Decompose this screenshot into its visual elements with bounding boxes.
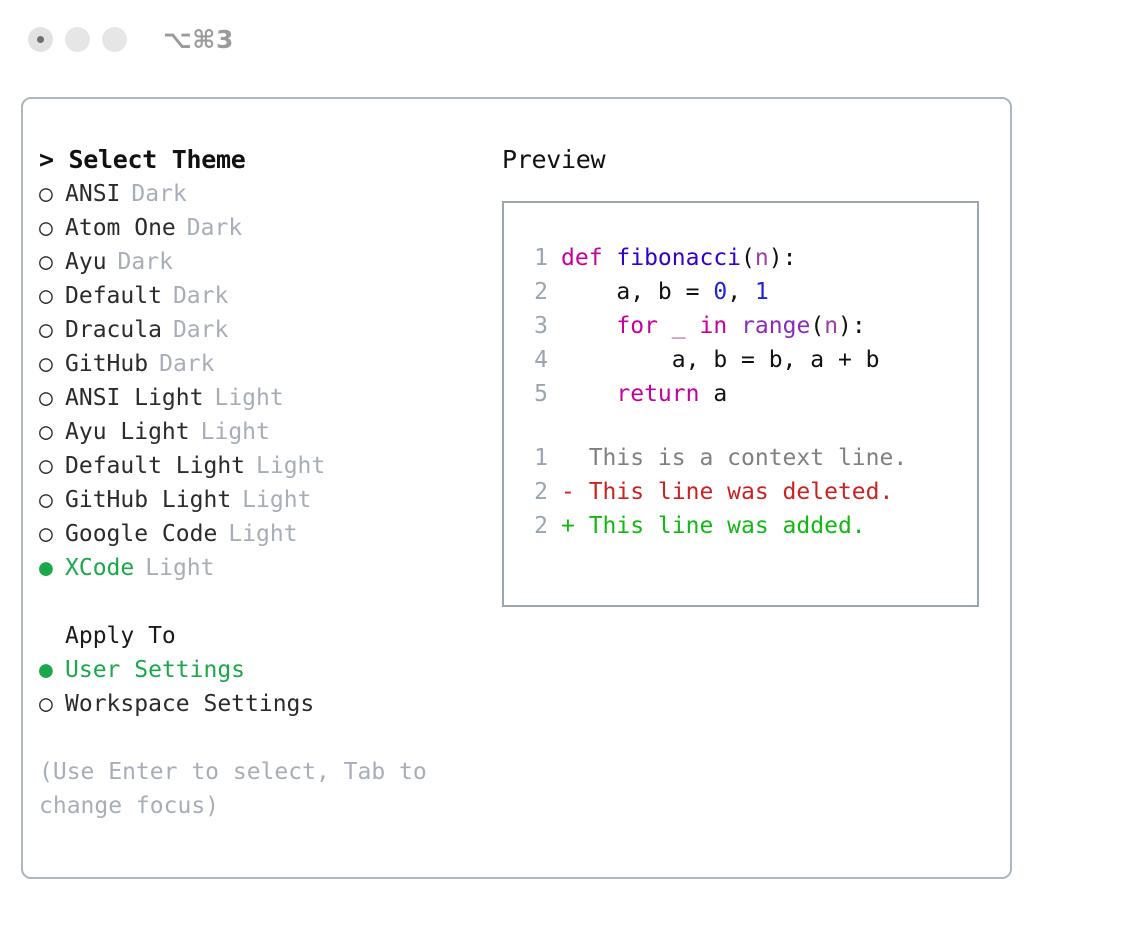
radio-unselected-icon: ○ [39,313,65,347]
code-line: 4 a, b = b, a + b [516,343,977,377]
apply-to-option-label: Workspace Settings [65,687,314,721]
code-line: 3 for _ in range(n): [516,309,977,343]
keyboard-shortcut-label: ⌥⌘3 [163,25,234,54]
theme-option-label: Ayu Light [65,415,190,449]
theme-option-default[interactable]: ○DefaultDark [39,279,479,313]
theme-option-label: Dracula [65,313,162,347]
diff-text: + This line was added. [561,509,866,543]
window-dot-second[interactable] [65,27,90,52]
theme-option-dracula[interactable]: ○DraculaDark [39,313,479,347]
apply-to-option-label: User Settings [65,653,245,687]
window-dot-third[interactable] [102,27,127,52]
code-line: 1def fibonacci(n): [516,241,977,275]
token-plain [686,313,700,339]
code-line: 5 return a [516,377,977,411]
theme-list: ○ANSIDark○Atom OneDark○AyuDark○DefaultDa… [39,177,479,585]
code-line: 2 a, b = 0, 1 [516,275,977,309]
theme-option-tag: Dark [173,313,228,347]
token-plain [561,381,616,407]
token-kw: return [616,381,699,407]
window-controls [28,27,127,52]
diff-line: 2- This line was deleted. [516,475,977,509]
line-number: 2 [516,475,548,509]
token-var: n [755,245,769,271]
theme-option-tag: Dark [173,279,228,313]
radio-unselected-icon: ○ [39,687,65,721]
theme-option-label: XCode [65,551,134,585]
theme-option-atom-one[interactable]: ○Atom OneDark [39,211,479,245]
token-plain [727,313,741,339]
theme-option-tag: Dark [187,211,242,245]
theme-option-github[interactable]: ○GitHubDark [39,347,479,381]
theme-option-label: Default [65,279,162,313]
apply-to-heading: Apply To [39,619,479,653]
theme-option-ayu[interactable]: ○AyuDark [39,245,479,279]
token-var: _ [672,313,686,339]
window-dot-filled[interactable] [28,27,53,52]
radio-unselected-icon: ○ [39,211,65,245]
theme-option-tag: Light [145,551,214,585]
theme-selector-column: > Select Theme ○ANSIDark○Atom OneDark○Ay… [39,143,479,823]
radio-unselected-icon: ○ [39,279,65,313]
theme-option-label: GitHub Light [65,483,231,517]
token-plain: a, b = [561,279,713,305]
preview-column: Preview 1def fibonacci(n):2 a, b = 0, 13… [502,143,982,607]
theme-option-tag: Light [201,415,270,449]
apply-to-option-workspace-settings[interactable]: ○Workspace Settings [39,687,479,721]
radio-unselected-icon: ○ [39,483,65,517]
line-number: 3 [516,309,548,343]
radio-unselected-icon: ○ [39,177,65,211]
token-num: 0 [713,279,727,305]
main-panel: > Select Theme ○ANSIDark○Atom OneDark○Ay… [21,97,1012,879]
token-plain: a, b = b, a + b [561,347,880,373]
diff-sample: 1 This is a context line.2- This line wa… [516,441,977,543]
token-plain: a [699,381,727,407]
radio-unselected-icon: ○ [39,449,65,483]
token-fn: fibonacci [616,245,741,271]
line-number: 2 [516,509,548,543]
token-plain: ( [741,245,755,271]
theme-option-label: Default Light [65,449,245,483]
preview-spacer [516,411,977,441]
theme-option-tag: Dark [118,245,173,279]
theme-option-tag: Dark [131,177,186,211]
theme-option-label: ANSI [65,177,120,211]
token-num: 1 [755,279,769,305]
diff-text: This is a context line. [561,441,907,475]
theme-option-label: GitHub [65,347,148,381]
token-plain: ): [769,245,797,271]
title-bar: ⌥⌘3 [0,0,1140,78]
theme-option-tag: Dark [159,347,214,381]
theme-option-ansi-light[interactable]: ○ANSI LightLight [39,381,479,415]
token-plain: ( [810,313,824,339]
token-var: n [824,313,838,339]
token-plain [561,313,616,339]
diff-line: 1 This is a context line. [516,441,977,475]
code-text: a, b = 0, 1 [561,275,769,309]
token-plain: ): [838,313,866,339]
apply-to-options: ●User Settings○Workspace Settings [39,653,479,721]
radio-selected-icon: ● [39,551,65,585]
code-sample: 1def fibonacci(n):2 a, b = 0, 13 for _ i… [516,241,977,411]
keyboard-hint-text: (Use Enter to select, Tab to change focu… [39,755,449,823]
token-builtin: range [741,313,810,339]
apply-to-section: Apply To ●User Settings○Workspace Settin… [39,619,479,721]
theme-option-xcode[interactable]: ●XCodeLight [39,551,479,585]
theme-option-label: ANSI Light [65,381,203,415]
token-del: - This line was deleted. [561,479,893,505]
apply-to-option-user-settings[interactable]: ●User Settings [39,653,479,687]
code-text: return a [561,377,727,411]
radio-unselected-icon: ○ [39,415,65,449]
code-text: def fibonacci(n): [561,241,796,275]
window-dot-inner [37,36,44,43]
token-add: + This line was added. [561,513,866,539]
token-ctx: This is a context line. [561,445,907,471]
token-plain: , [727,279,755,305]
theme-option-tag: Light [256,449,325,483]
preview-heading: Preview [502,143,982,177]
radio-unselected-icon: ○ [39,381,65,415]
theme-option-label: Google Code [65,517,217,551]
theme-option-tag: Light [214,381,283,415]
theme-option-label: Ayu [65,245,107,279]
radio-unselected-icon: ○ [39,347,65,381]
theme-option-github-light[interactable]: ○GitHub LightLight [39,483,479,517]
theme-option-google-code[interactable]: ○Google CodeLight [39,517,479,551]
token-kw: for [616,313,658,339]
app-window: ⌥⌘3 > Select Theme ○ANSIDark○Atom OneDar… [0,0,1140,934]
code-text: a, b = b, a + b [561,343,880,377]
theme-option-ansi[interactable]: ○ANSIDark [39,177,479,211]
token-plain [658,313,672,339]
line-number: 1 [516,441,548,475]
line-number: 2 [516,275,548,309]
code-text: for _ in range(n): [561,309,866,343]
theme-option-tag: Light [228,517,297,551]
line-number: 4 [516,343,548,377]
radio-selected-icon: ● [39,653,65,687]
theme-option-ayu-light[interactable]: ○Ayu LightLight [39,415,479,449]
theme-option-tag: Light [242,483,311,517]
preview-box: 1def fibonacci(n):2 a, b = 0, 13 for _ i… [502,201,979,607]
line-number: 1 [516,241,548,275]
theme-option-default-light[interactable]: ○Default LightLight [39,449,479,483]
theme-option-label: Atom One [65,211,176,245]
radio-unselected-icon: ○ [39,517,65,551]
token-kw: def [561,245,616,271]
diff-text: - This line was deleted. [561,475,893,509]
line-number: 5 [516,377,548,411]
select-theme-heading: > Select Theme [39,143,479,177]
token-kw: in [700,313,728,339]
diff-line: 2+ This line was added. [516,509,977,543]
radio-unselected-icon: ○ [39,245,65,279]
